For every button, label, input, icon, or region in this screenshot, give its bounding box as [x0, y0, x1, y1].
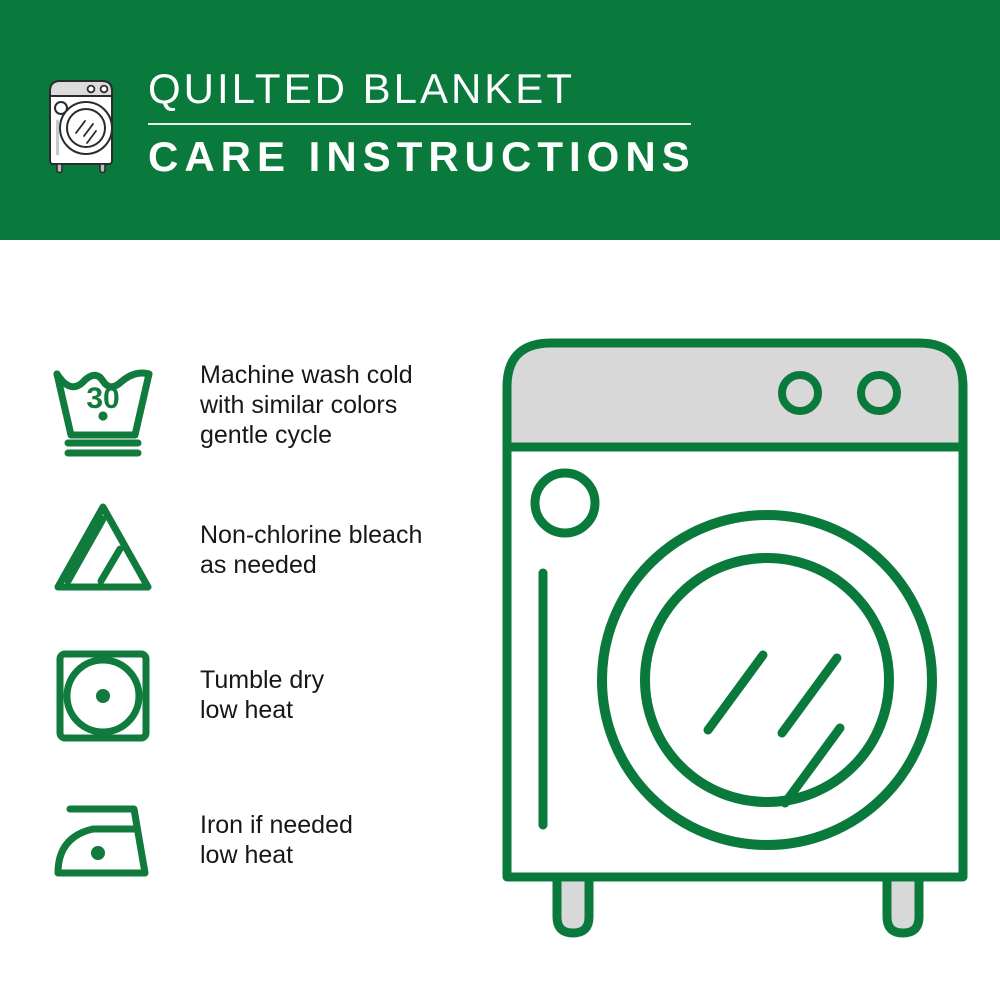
care-row: 30 Machine wash cold with similar colors…	[48, 350, 478, 460]
care-row-label: Tumble dry low heat	[200, 665, 324, 725]
washing-machine-icon	[42, 66, 134, 174]
machine-leg	[887, 877, 919, 933]
front-load-washing-machine-illustration	[495, 325, 975, 940]
care-row: Iron if needed low heat	[48, 785, 478, 895]
care-row: Tumble dry low heat	[48, 640, 478, 750]
machine-leg	[557, 877, 589, 933]
care-row-label: Machine wash cold with similar colors ge…	[200, 360, 413, 450]
wash-dot	[98, 411, 107, 420]
care-instruction-list: 30 Machine wash cold with similar colors…	[0, 240, 500, 1000]
header-banner: QUILTED BLANKET CARE INSTRUCTIONS	[0, 0, 1000, 240]
door-inner-ring	[645, 558, 889, 802]
tumble-dry-low-heat-icon	[48, 640, 158, 750]
iron-low-heat-icon	[48, 785, 158, 895]
non-chlorine-bleach-triangle-icon	[48, 495, 158, 605]
wash-temperature-value: 30	[86, 382, 119, 415]
control-knob[interactable]	[782, 375, 818, 411]
care-row-label: Iron if needed low heat	[200, 810, 353, 870]
care-row: Non-chlorine bleach as needed	[48, 495, 478, 605]
iron-heat-dot	[91, 846, 105, 860]
header-content: QUILTED BLANKET CARE INSTRUCTIONS	[42, 62, 696, 181]
title-divider	[148, 123, 691, 125]
detergent-dispenser-icon	[535, 473, 595, 533]
dryer-heat-dot	[96, 689, 110, 703]
control-knob[interactable]	[861, 375, 897, 411]
page-title-primary: QUILTED BLANKET	[148, 64, 696, 114]
care-row-label: Non-chlorine bleach as needed	[200, 520, 422, 580]
header-title-block: QUILTED BLANKET CARE INSTRUCTIONS	[148, 62, 696, 181]
wash-tub-30-gentle-icon: 30	[48, 350, 158, 460]
page-title-secondary: CARE INSTRUCTIONS	[148, 133, 696, 181]
